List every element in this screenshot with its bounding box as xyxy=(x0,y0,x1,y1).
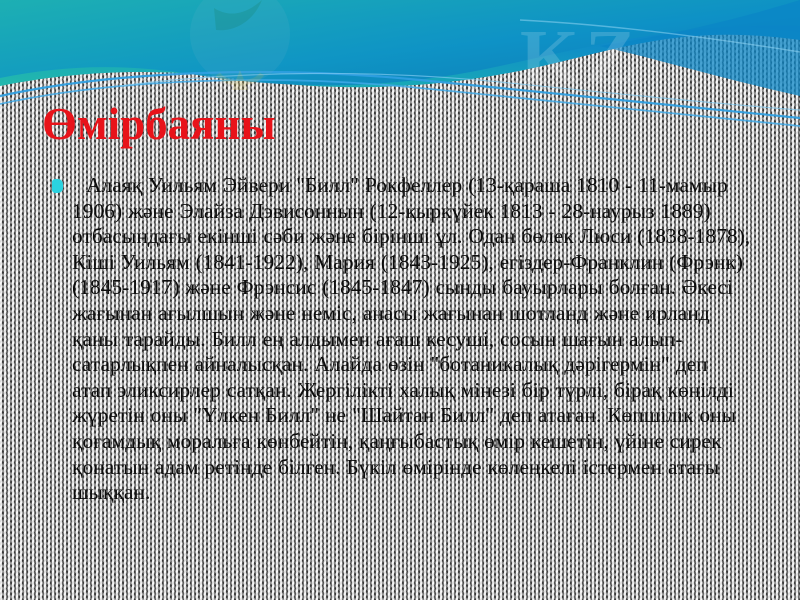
slide-title: Өмірбаяны xyxy=(42,101,276,148)
bullet-item-text: Алаяқ Уильям Эйвери "Билл" Рокфеллер (13… xyxy=(72,173,752,506)
slide-content: Алаяқ Уильям Эйвери "Билл" Рокфеллер (13… xyxy=(52,173,752,506)
square-bullet-icon xyxy=(52,179,63,193)
presentation-slide: KZ Өмірбаяны Алаяқ Уильям Эйвери "Билл" … xyxy=(0,0,800,600)
bullet-list-item: Алаяқ Уильям Эйвери "Билл" Рокфеллер (13… xyxy=(52,173,752,506)
